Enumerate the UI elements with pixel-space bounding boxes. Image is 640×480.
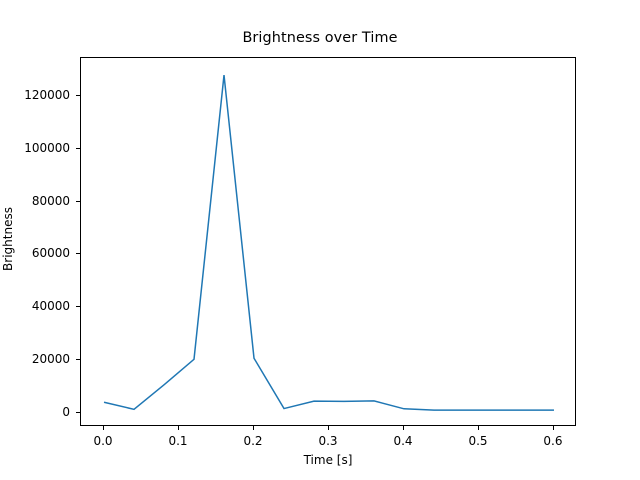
y-tick-label: 100000 bbox=[24, 141, 70, 155]
y-axis-tick-labels: 020000400006000080000100000120000 bbox=[0, 0, 70, 480]
x-tick-label: 0.5 bbox=[468, 434, 487, 448]
x-tick-label: 0.4 bbox=[393, 434, 412, 448]
data-line-plot bbox=[81, 58, 577, 427]
x-tick-mark bbox=[478, 426, 479, 430]
x-tick-label: 0.1 bbox=[168, 434, 187, 448]
x-tick-mark bbox=[253, 426, 254, 430]
y-tick-label: 40000 bbox=[32, 299, 70, 313]
x-tick-label: 0.3 bbox=[318, 434, 337, 448]
x-axis-label: Time [s] bbox=[80, 453, 576, 467]
x-tick-mark bbox=[328, 426, 329, 430]
y-tick-label: 0 bbox=[62, 405, 70, 419]
chart-title: Brightness over Time bbox=[0, 30, 640, 46]
x-tick-label: 0.0 bbox=[93, 434, 112, 448]
x-tick-mark bbox=[403, 426, 404, 430]
y-tick-label: 80000 bbox=[32, 194, 70, 208]
x-tick-label: 0.2 bbox=[243, 434, 262, 448]
figure-canvas: Brightness over Time Brightness 02000040… bbox=[0, 0, 640, 480]
plot-axes-area bbox=[80, 57, 576, 426]
y-tick-label: 20000 bbox=[32, 352, 70, 366]
x-tick-mark bbox=[178, 426, 179, 430]
x-tick-mark bbox=[553, 426, 554, 430]
y-tick-label: 120000 bbox=[24, 88, 70, 102]
x-tick-mark bbox=[103, 426, 104, 430]
brightness-series-line bbox=[104, 75, 554, 410]
x-tick-label: 0.6 bbox=[543, 434, 562, 448]
y-tick-label: 60000 bbox=[32, 246, 70, 260]
